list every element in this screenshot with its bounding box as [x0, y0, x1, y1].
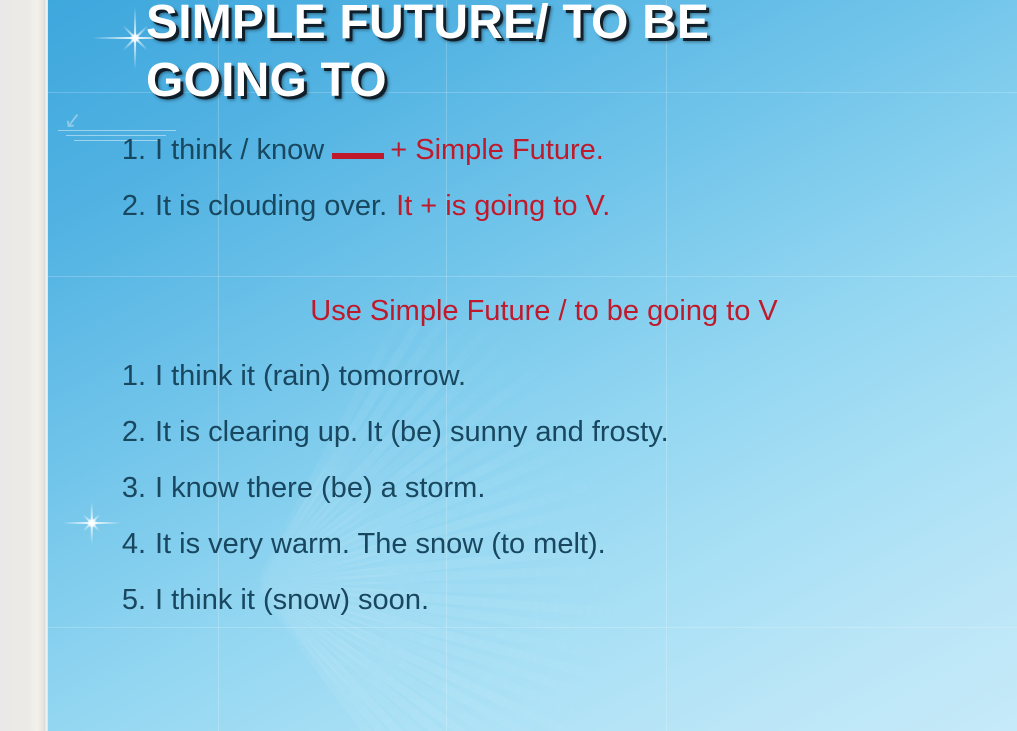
list-item-number: 3.: [104, 460, 146, 516]
list-item: 1. I think it (rain) tomorrow.: [104, 348, 1004, 404]
slide-canvas: ↙ SIMPLE FUTURE/ TO BE GOING TO 1. I thi…: [48, 0, 1017, 731]
practice-list: 1. I think it (rain) tomorrow. 2. It is …: [104, 348, 1004, 628]
slide-content: SIMPLE FUTURE/ TO BE GOING TO 1. I think…: [48, 0, 1017, 731]
list-item-number: 2.: [104, 404, 146, 460]
page-title: SIMPLE FUTURE/ TO BE GOING TO: [146, 0, 926, 110]
list-item-text: I think it (snow) soon.: [155, 572, 429, 628]
list-item: 4. It is very warm. The snow (to melt).: [104, 516, 1004, 572]
list-item-accent: It + is going to V.: [396, 178, 610, 234]
list-item-number: 1.: [104, 348, 146, 404]
list-item-number: 4.: [104, 516, 146, 572]
list-item-number: 5.: [104, 572, 146, 628]
list-item-number: 2.: [104, 178, 146, 234]
page-margin-strip: [0, 0, 44, 731]
instruction-text: Use Simple Future / to be going to V: [104, 288, 984, 334]
list-item-number: 1.: [104, 122, 146, 178]
list-item-text: It is very warm. The snow (to melt).: [155, 516, 606, 572]
slide-root: ↙ SIMPLE FUTURE/ TO BE GOING TO 1. I thi…: [0, 0, 1017, 731]
rules-list: 1. I think / know + Simple Future. 2. It…: [104, 122, 1004, 234]
list-item-text: It is clearing up. It (be) sunny and fro…: [155, 404, 669, 460]
list-item: 3. I know there (be) a storm.: [104, 460, 1004, 516]
list-item-text: I think / know: [155, 122, 324, 178]
blank-underscore: [332, 153, 384, 159]
list-item: 2. It is clouding over. It + is going to…: [104, 178, 1004, 234]
list-item-text: I know there (be) a storm.: [155, 460, 485, 516]
list-item-text: I think it (rain) tomorrow.: [155, 348, 466, 404]
list-item-accent: + Simple Future.: [390, 122, 604, 178]
list-item: 2. It is clearing up. It (be) sunny and …: [104, 404, 1004, 460]
list-item: 1. I think / know + Simple Future.: [104, 122, 1004, 178]
list-item: 5. I think it (snow) soon.: [104, 572, 1004, 628]
list-item-text: It is clouding over.: [155, 178, 387, 234]
